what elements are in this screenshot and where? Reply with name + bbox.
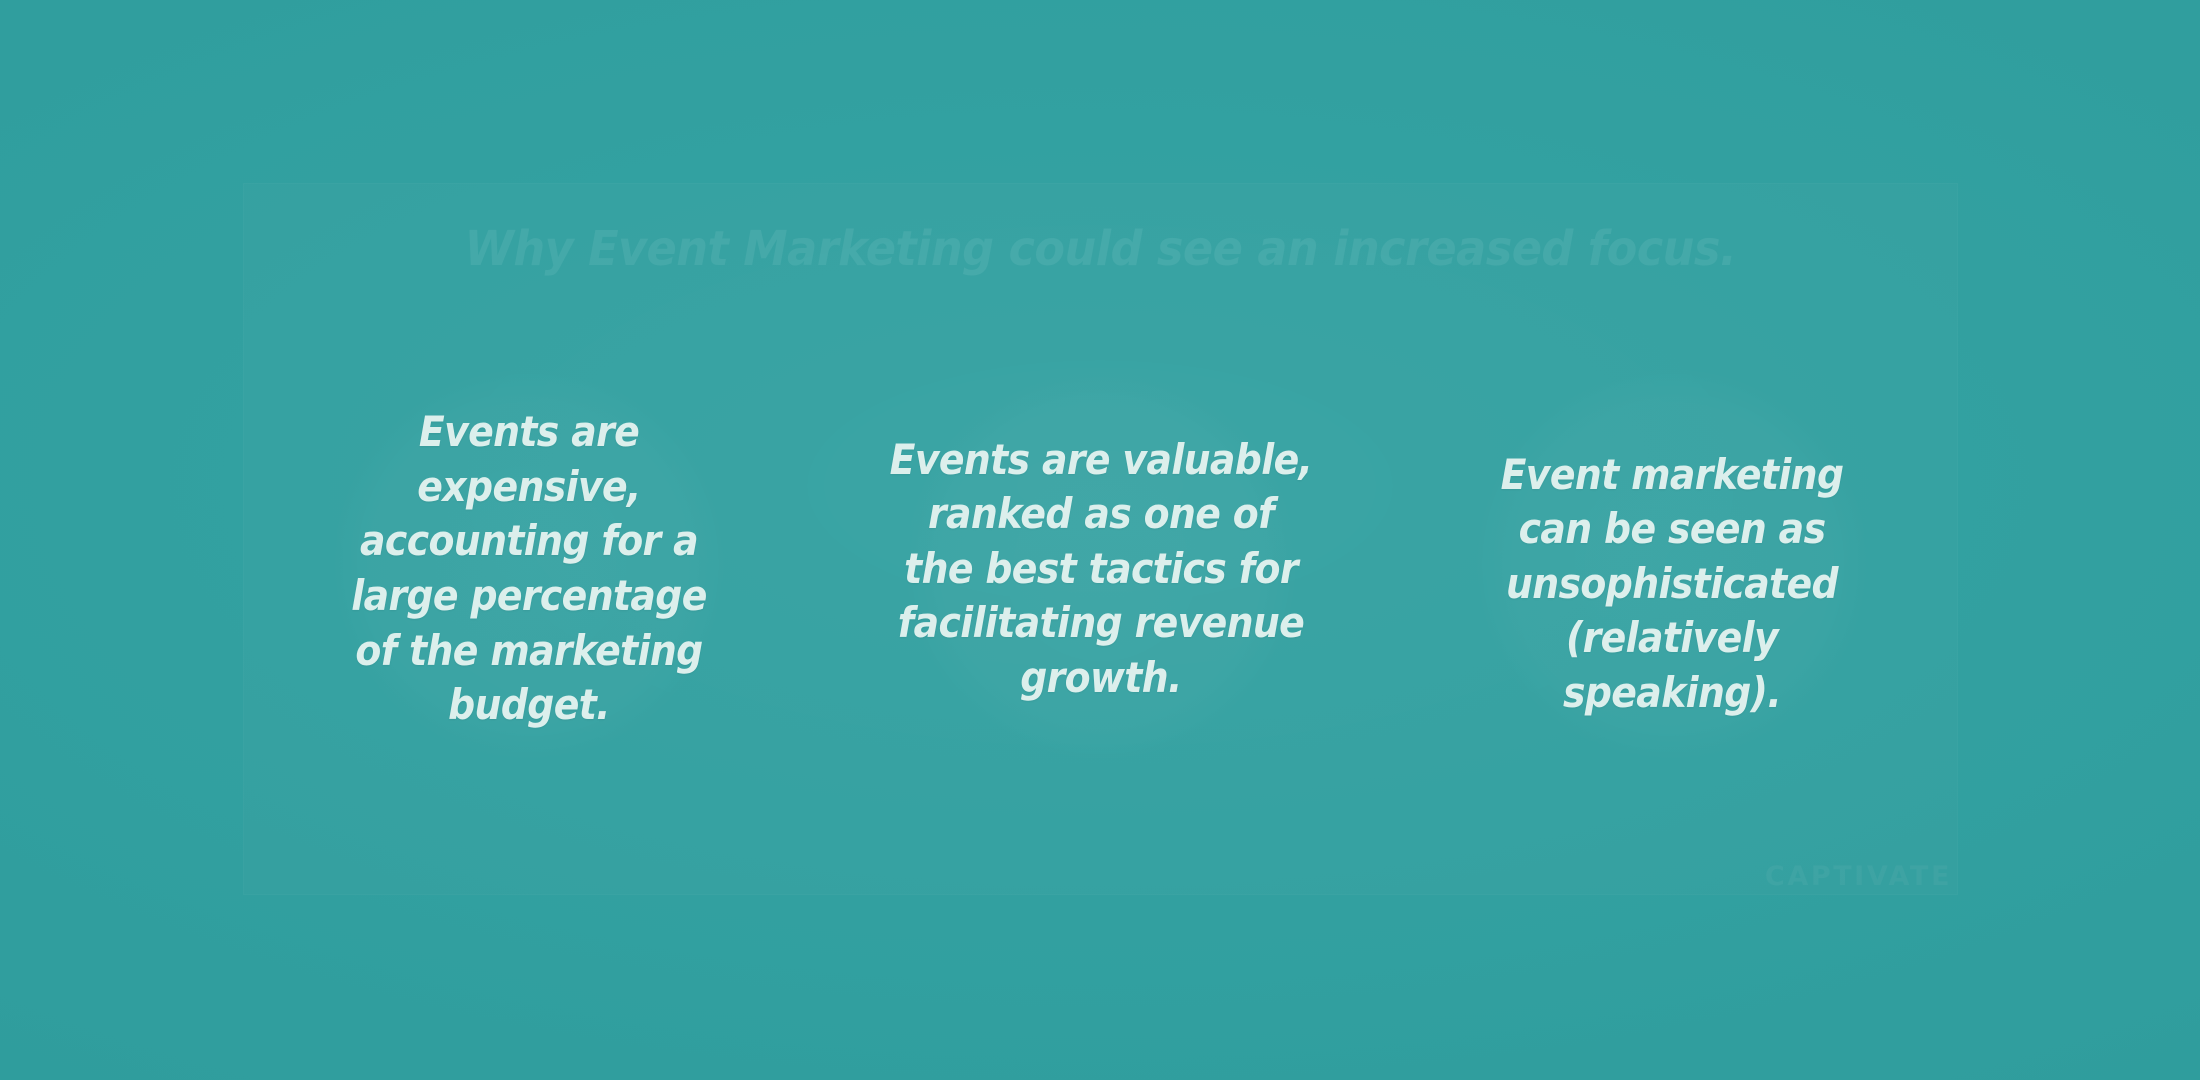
page-title: Why Event Marketing could see an increas…: [303, 222, 1898, 277]
statement-text: Event marketing can be seen as unsophist…: [1461, 448, 1884, 721]
statement-text: Events are expensive, accounting for a l…: [340, 405, 718, 733]
statement-text: Events are valuable, ranked as one of th…: [889, 433, 1312, 706]
slide-canvas: Why Event Marketing could see an increas…: [0, 0, 2200, 1080]
statement-column-unsophisticated: Event marketing can be seen as unsophist…: [1386, 330, 1958, 800]
statement-columns: Events are expensive, accounting for a l…: [243, 330, 1958, 800]
statement-column-expensive: Events are expensive, accounting for a l…: [243, 330, 815, 800]
statement-column-valuable: Events are valuable, ranked as one of th…: [815, 330, 1387, 800]
brand-watermark: CAPTIVATE: [1765, 861, 1952, 892]
